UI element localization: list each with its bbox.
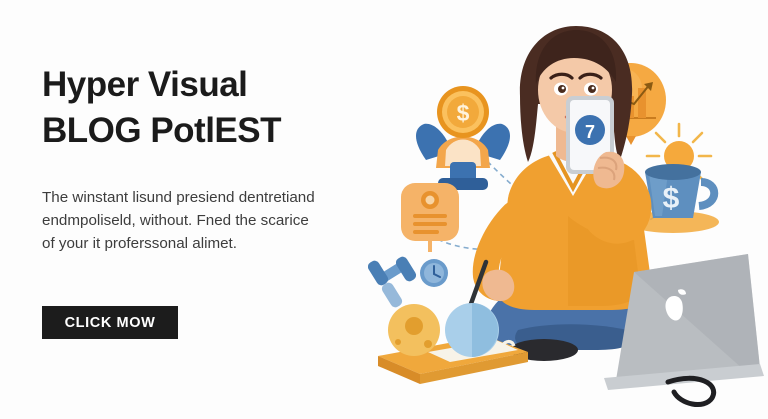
- clock-icon: [420, 259, 448, 287]
- headline-line-2: BLOG PotlEST: [42, 108, 362, 154]
- click-now-button[interactable]: CLICK MOW: [42, 306, 178, 339]
- body-paragraph: The winstant lisund presiend dentretiand…: [42, 186, 324, 255]
- headline-line-1: Hyper Visual: [42, 62, 362, 108]
- money-mug-dollar-symbol: $: [663, 182, 680, 215]
- coin-dollar-icon: $: [416, 86, 510, 190]
- profile-card-icon: [401, 183, 459, 252]
- hero-banner: Hyper Visual BLOG PotlEST The winstant l…: [0, 0, 768, 419]
- dumbbell-icon: [368, 255, 418, 309]
- hero-illustration: $: [368, 0, 768, 419]
- coin-dollar-symbol: $: [457, 100, 470, 126]
- phone-badge-number: 7: [585, 122, 595, 142]
- text-column: Hyper Visual BLOG PotlEST The winstant l…: [42, 62, 362, 154]
